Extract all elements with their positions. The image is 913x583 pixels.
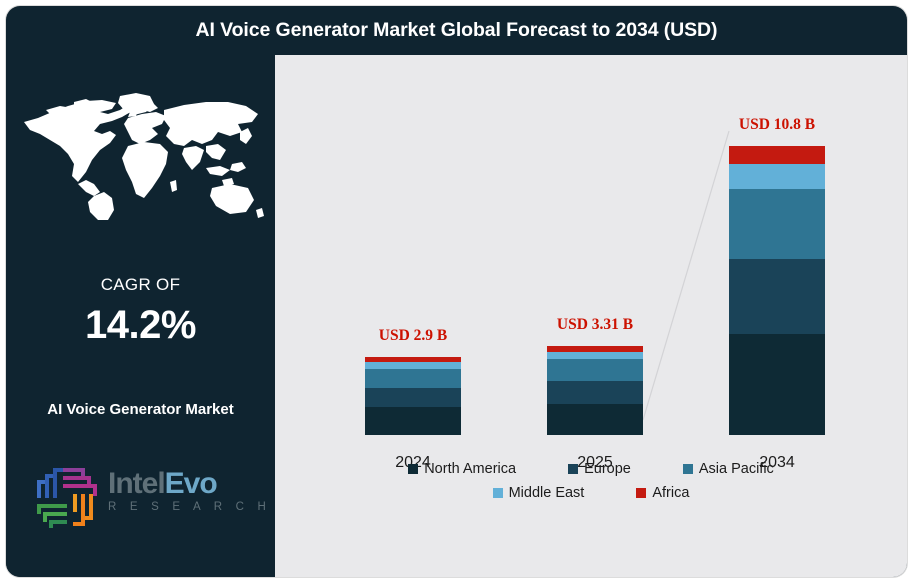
legend-item-europe[interactable]: Europe xyxy=(568,461,631,477)
infographic-card: AI Voice Generator Market Global Forecas… xyxy=(6,6,907,577)
bar-segment-middle-east[interactable] xyxy=(729,164,825,189)
bar-segment-north-america[interactable] xyxy=(729,334,825,435)
brand-logo: IntelEvo R E S E A R C H xyxy=(22,453,268,539)
legend-label: Asia Pacific xyxy=(699,461,774,477)
sidebar-panel: CAGR OF 14.2% AI Voice Generator Market xyxy=(6,55,275,577)
bar-segment-africa[interactable] xyxy=(729,146,825,164)
bar-value-label: USD 10.8 B xyxy=(705,116,849,134)
bar-segment-asia-pacific[interactable] xyxy=(729,189,825,259)
bar-group: USD 3.31 B2025 xyxy=(547,70,643,435)
legend-label: North America xyxy=(424,461,516,477)
bar-stack[interactable] xyxy=(365,357,461,435)
bar-value-label: USD 3.31 B xyxy=(523,316,667,334)
bar-segment-north-america[interactable] xyxy=(547,404,643,435)
legend-swatch xyxy=(408,464,418,474)
bar-segment-middle-east[interactable] xyxy=(547,352,643,360)
intelevo-pinwheel-icon xyxy=(25,456,105,536)
legend-swatch xyxy=(568,464,578,474)
legend-item-middle-east[interactable]: Middle East xyxy=(493,485,585,501)
legend-item-north-america[interactable]: North America xyxy=(408,461,516,477)
legend-label: Africa xyxy=(652,485,689,501)
bar-stack[interactable] xyxy=(547,346,643,435)
bar-segment-asia-pacific[interactable] xyxy=(365,369,461,388)
market-name: AI Voice Generator Market xyxy=(6,401,275,418)
legend-item-africa[interactable]: Africa xyxy=(636,485,689,501)
bar-stack[interactable] xyxy=(729,146,825,435)
bar-value-label: USD 2.9 B xyxy=(341,327,485,345)
cagr-value: 14.2% xyxy=(6,303,275,348)
bar-segment-europe[interactable] xyxy=(547,381,643,404)
stacked-bar-chart: USD 2.9 B2024USD 3.31 B2025USD 10.8 B203… xyxy=(275,55,907,435)
bar-group: USD 2.9 B2024 xyxy=(365,70,461,435)
logo-subtitle: R E S E A R C H xyxy=(108,501,268,513)
bar-segment-north-america[interactable] xyxy=(365,407,461,435)
legend-swatch xyxy=(636,488,646,498)
cagr-label: CAGR OF xyxy=(6,275,275,295)
bar-segment-europe[interactable] xyxy=(729,259,825,333)
legend-swatch xyxy=(493,488,503,498)
legend-item-asia-pacific[interactable]: Asia Pacific xyxy=(683,461,774,477)
bar-group: USD 10.8 B2034 xyxy=(729,70,825,435)
chart-panel: USD 2.9 B2024USD 3.31 B2025USD 10.8 B203… xyxy=(275,55,907,577)
page-title: AI Voice Generator Market Global Forecas… xyxy=(196,19,718,42)
legend-label: Middle East xyxy=(509,485,585,501)
legend-label: Europe xyxy=(584,461,631,477)
logo-word-intel: Intel xyxy=(108,467,165,500)
bar-segment-asia-pacific[interactable] xyxy=(547,359,643,380)
logo-wordmark: IntelEvo R E S E A R C H xyxy=(108,467,268,513)
chart-legend: North AmericaEuropeAsia Pacific Middle E… xyxy=(275,461,907,501)
logo-word-evo: Evo xyxy=(165,467,217,500)
title-bar: AI Voice Generator Market Global Forecas… xyxy=(6,6,907,55)
world-map-icon xyxy=(16,88,266,220)
bar-segment-middle-east[interactable] xyxy=(365,362,461,369)
bar-segment-europe[interactable] xyxy=(365,388,461,408)
legend-swatch xyxy=(683,464,693,474)
